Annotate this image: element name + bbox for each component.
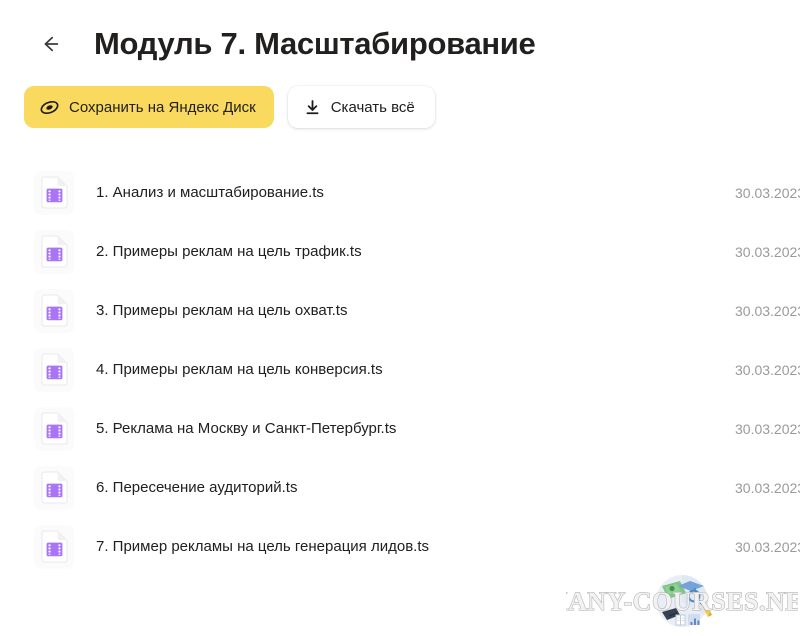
- action-toolbar: Сохранить на Яндекс Диск Скачать всё: [24, 86, 435, 128]
- file-list: 1. Анализ и масштабирование.ts 30.03.202…: [0, 163, 800, 576]
- page-header: Модуль 7. Масштабирование: [0, 0, 800, 88]
- file-date: 30.03.2023: [735, 243, 800, 261]
- download-all-button[interactable]: Скачать всё: [288, 86, 435, 128]
- file-row[interactable]: 7. Пример рекламы на цель генерация лидо…: [0, 517, 800, 576]
- file-row[interactable]: 2. Примеры реклам на цель трафик.ts 30.0…: [0, 222, 800, 281]
- svg-text:MANY-COURSES.NET: MANY-COURSES.NET: [566, 587, 798, 616]
- file-name: 7. Пример рекламы на цель генерация лидо…: [96, 537, 429, 557]
- video-file-icon: [34, 348, 74, 392]
- file-row[interactable]: 3. Примеры реклам на цель охват.ts 30.03…: [0, 281, 800, 340]
- file-date: 30.03.2023: [735, 184, 800, 202]
- save-to-yandex-disk-label: Сохранить на Яндекс Диск: [69, 99, 256, 116]
- video-file-icon: [34, 466, 74, 510]
- video-file-icon: [34, 289, 74, 333]
- back-button[interactable]: [28, 22, 72, 66]
- page-title: Модуль 7. Масштабирование: [94, 26, 536, 62]
- file-row[interactable]: 5. Реклама на Москву и Санкт-Петербург.t…: [0, 399, 800, 458]
- file-row[interactable]: 6. Пересечение аудиторий.ts 30.03.2023: [0, 458, 800, 517]
- video-file-icon: [34, 407, 74, 451]
- save-to-yandex-disk-button[interactable]: Сохранить на Яндекс Диск: [24, 86, 274, 128]
- file-name: 4. Примеры реклам на цель конверсия.ts: [96, 360, 383, 380]
- download-icon: [304, 99, 321, 116]
- file-row[interactable]: 4. Примеры реклам на цель конверсия.ts 3…: [0, 340, 800, 399]
- file-date: 30.03.2023: [735, 361, 800, 379]
- file-name: 2. Примеры реклам на цель трафик.ts: [96, 242, 362, 262]
- globe-education-collage-icon: [656, 575, 712, 627]
- video-file-icon: [34, 525, 74, 569]
- file-name: 6. Пересечение аудиторий.ts: [96, 478, 297, 498]
- arrow-left-icon: [37, 31, 63, 57]
- yandex-disk-icon: [40, 98, 59, 117]
- file-row[interactable]: 1. Анализ и масштабирование.ts 30.03.202…: [0, 163, 800, 222]
- video-file-icon: [34, 171, 74, 215]
- file-date: 30.03.2023: [735, 538, 800, 556]
- file-name: 5. Реклама на Москву и Санкт-Петербург.t…: [96, 419, 396, 439]
- file-date: 30.03.2023: [735, 420, 800, 438]
- file-date: 30.03.2023: [735, 302, 800, 320]
- video-file-icon: [34, 230, 74, 274]
- site-watermark: MANY-COURSES.NET: [566, 572, 798, 632]
- file-date: 30.03.2023: [735, 479, 800, 497]
- file-name: 1. Анализ и масштабирование.ts: [96, 183, 324, 203]
- file-name: 3. Примеры реклам на цель охват.ts: [96, 301, 347, 321]
- download-all-label: Скачать всё: [331, 99, 415, 116]
